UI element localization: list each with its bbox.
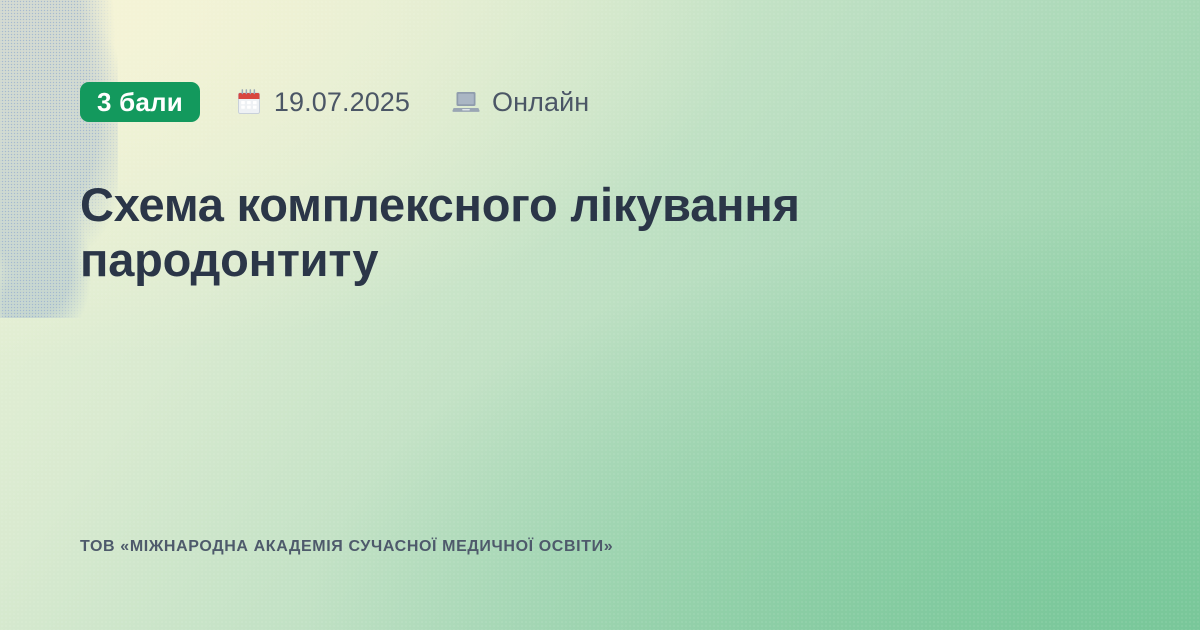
- calendar-icon: [236, 88, 262, 116]
- event-date-text: 19.07.2025: [274, 87, 410, 118]
- organization-name: ТОВ «МІЖНАРОДНА АКАДЕМІЯ СУЧАСНОЇ МЕДИЧН…: [80, 538, 613, 556]
- footer: ТОВ «МІЖНАРОДНА АКАДЕМІЯ СУЧАСНОЇ МЕДИЧН…: [80, 538, 613, 556]
- event-format-text: Онлайн: [492, 87, 589, 118]
- event-date: 19.07.2025: [236, 87, 410, 118]
- points-badge: 3 бали: [80, 82, 200, 122]
- event-format: Онлайн: [452, 87, 589, 118]
- card-content: 3 бали: [0, 0, 1200, 630]
- meta-row: 3 бали: [80, 82, 1120, 122]
- page-title: Схема комплексного лікування пародонтиту: [80, 122, 980, 288]
- event-card: 3 бали: [0, 0, 1200, 630]
- laptop-icon: [452, 89, 480, 115]
